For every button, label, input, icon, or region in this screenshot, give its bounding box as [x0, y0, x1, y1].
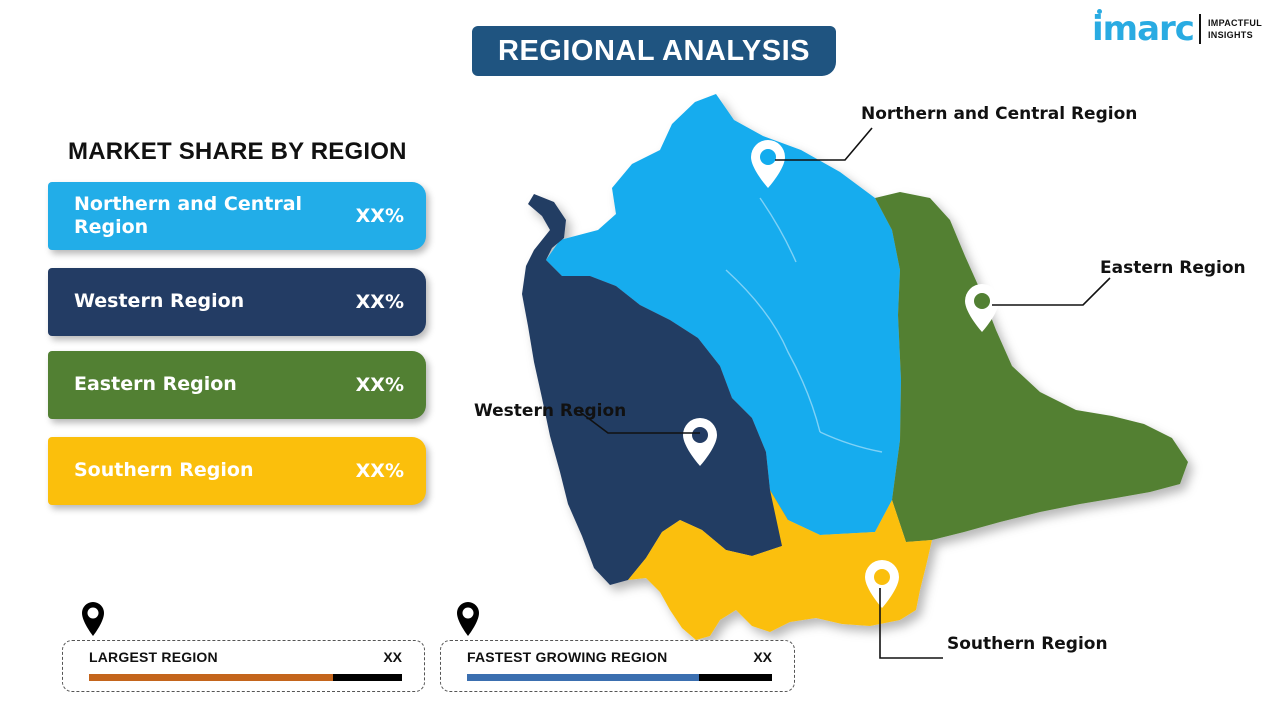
map-region-eastern[interactable] — [875, 192, 1188, 542]
largest-region-progress-track — [89, 674, 402, 681]
page-title: REGIONAL ANALYSIS — [498, 35, 810, 68]
largest-region-progress-fill — [89, 674, 333, 681]
legend-item-label: Northern and Central Region — [74, 193, 314, 239]
fastest-growing-region-progress-fill — [467, 674, 699, 681]
saudi-arabia-region-map — [520, 80, 1220, 650]
legend-item-western[interactable]: Western Region XX% — [48, 268, 426, 336]
callout-label-southern: Southern Region — [947, 634, 1108, 654]
largest-region-card[interactable]: LARGEST REGION XX — [62, 640, 425, 692]
legend-item-label: Western Region — [74, 290, 244, 313]
legend-item-value: XX% — [356, 460, 404, 482]
logo-divider — [1199, 14, 1201, 44]
largest-region-value: XX — [383, 649, 402, 665]
map-pin-icon — [80, 602, 106, 636]
logo-wordmark-text: imarc — [1092, 9, 1194, 49]
logo-wordmark: imarc — [1092, 12, 1194, 46]
logo-tagline: IMPACTFUL INSIGHTS — [1208, 17, 1262, 41]
logo-tagline-line1: IMPACTFUL — [1208, 17, 1262, 29]
legend-item-northern-and-central[interactable]: Northern and Central Region XX% — [48, 182, 426, 250]
callout-label-western: Western Region — [474, 401, 626, 421]
fastest-growing-region-card[interactable]: FASTEST GROWING REGION XX — [440, 640, 795, 692]
page-title-banner: REGIONAL ANALYSIS — [472, 26, 836, 76]
logo-dot-icon — [1097, 9, 1102, 14]
legend-item-value: XX% — [356, 205, 404, 227]
largest-region-label: LARGEST REGION — [89, 649, 218, 665]
fastest-growing-region-value: XX — [753, 649, 772, 665]
legend-item-label: Eastern Region — [74, 373, 237, 396]
map-pin-icon — [455, 602, 481, 636]
callout-label-northern-and-central: Northern and Central Region — [861, 104, 1137, 124]
fastest-growing-region-progress-track — [467, 674, 772, 681]
legend-item-value: XX% — [356, 374, 404, 396]
legend-item-eastern[interactable]: Eastern Region XX% — [48, 351, 426, 419]
legend-item-label: Southern Region — [74, 459, 253, 482]
legend-item-southern[interactable]: Southern Region XX% — [48, 437, 426, 505]
logo-tagline-line2: INSIGHTS — [1208, 29, 1262, 41]
panel-heading: MARKET SHARE BY REGION — [68, 138, 407, 166]
fastest-growing-region-label: FASTEST GROWING REGION — [467, 649, 667, 665]
legend-item-value: XX% — [356, 291, 404, 313]
imarc-logo: imarc IMPACTFUL INSIGHTS — [1092, 12, 1262, 46]
callout-label-eastern: Eastern Region — [1100, 258, 1246, 278]
